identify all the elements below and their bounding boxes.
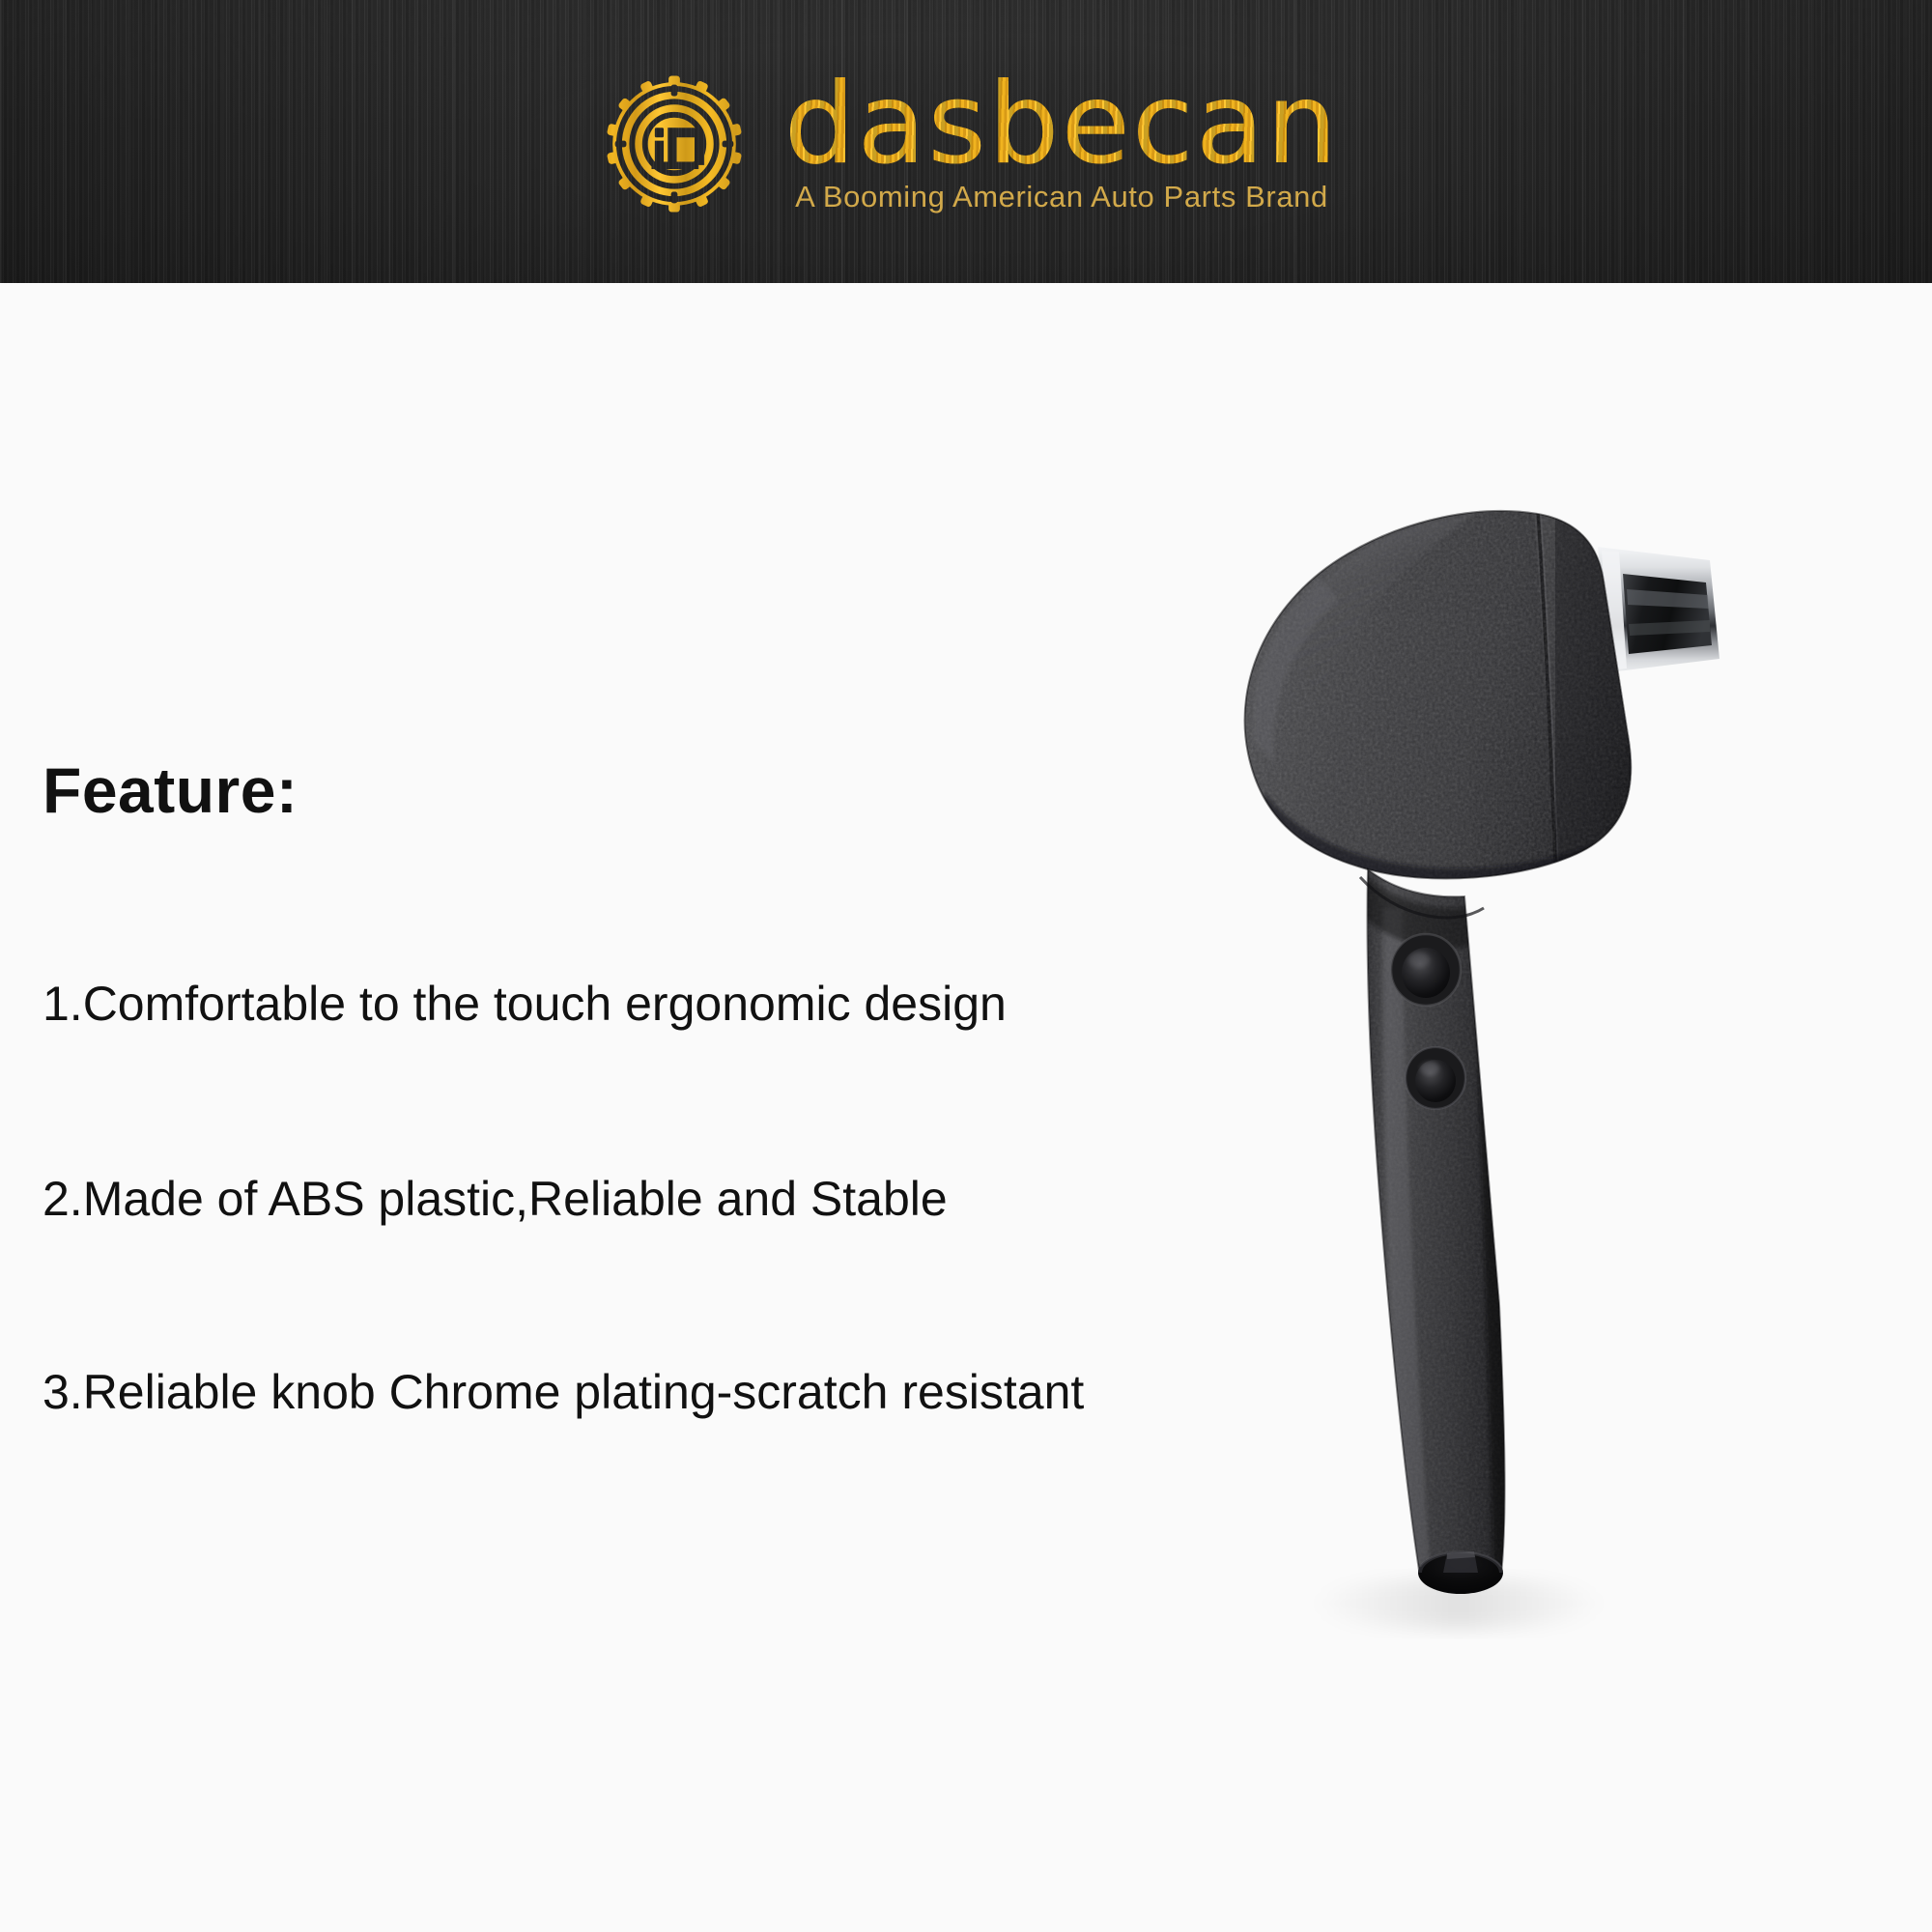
brand-name: dasbecan [784, 71, 1340, 178]
gear-shift-knob-illustration [1140, 454, 1874, 1739]
chrome-release-button [1598, 547, 1719, 672]
brand-wordblock: dasbecan A Booming American Auto Parts B… [784, 71, 1340, 214]
feature-heading: Feature: [43, 753, 298, 827]
feature-item-2: 2.Made of ABS plastic,Reliable and Stabl… [43, 1171, 948, 1227]
shaft-button-lower [1406, 1047, 1465, 1109]
feature-item-1: 1.Comfortable to the touch ergonomic des… [43, 976, 1007, 1032]
gear-cog-icon [593, 63, 755, 225]
product-image-gear-shift-knob [1140, 454, 1874, 1739]
shaft-bottom-opening [1418, 1551, 1503, 1594]
knob-head [1227, 497, 1652, 894]
brand-logo-lockup: dasbecan A Booming American Auto Parts B… [0, 0, 1932, 283]
feature-item-3: 3.Reliable knob Chrome plating-scratch r… [43, 1364, 1084, 1420]
brand-header: dasbecan A Booming American Auto Parts B… [0, 0, 1932, 283]
brand-tagline: A Booming American Auto Parts Brand [795, 180, 1328, 214]
shaft-button-upper [1391, 934, 1461, 1006]
